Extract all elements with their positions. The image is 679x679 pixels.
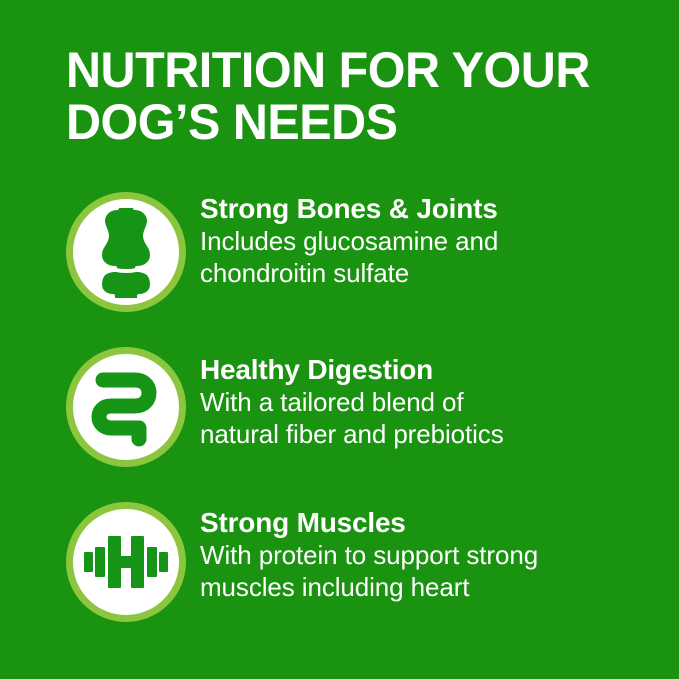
dumbbell-icon bbox=[84, 536, 168, 588]
feature-description-line-2: chondroitin sulfate bbox=[200, 257, 660, 289]
intestine-icon bbox=[91, 367, 161, 447]
feature-heading: Strong Bones & Joints bbox=[200, 192, 660, 225]
intestine-icon-badge bbox=[66, 347, 186, 467]
feature-text-bones-joints: Strong Bones & Joints Includes glucosami… bbox=[200, 192, 660, 289]
feature-description: Includes glucosamine and chondroitin sul… bbox=[200, 225, 660, 289]
feature-description-line-2: muscles including heart bbox=[200, 571, 660, 603]
nutrition-infographic: NUTRITION FOR YOUR DOG’S NEEDS bbox=[0, 0, 679, 679]
feature-description: With a tailored blend of natural fiber a… bbox=[200, 386, 660, 450]
bone-joint-icon-badge bbox=[66, 192, 186, 312]
dumbbell-icon-badge bbox=[66, 502, 186, 622]
feature-description-line-1: Includes glucosamine and bbox=[200, 225, 660, 257]
feature-text-muscles: Strong Muscles With protein to support s… bbox=[200, 506, 660, 603]
feature-description: With protein to support strong muscles i… bbox=[200, 539, 660, 603]
feature-item-muscles: Strong Muscles With protein to support s… bbox=[0, 496, 679, 651]
page-title-line-2: DOG’S NEEDS bbox=[66, 96, 629, 148]
page-title: NUTRITION FOR YOUR DOG’S NEEDS bbox=[66, 44, 646, 148]
feature-heading: Healthy Digestion bbox=[200, 353, 660, 386]
feature-description-line-1: With protein to support strong bbox=[200, 539, 660, 571]
feature-heading: Strong Muscles bbox=[200, 506, 660, 539]
feature-list: Strong Bones & Joints Includes glucosami… bbox=[0, 186, 679, 651]
feature-description-line-1: With a tailored blend of bbox=[200, 386, 660, 418]
feature-item-digestion: Healthy Digestion With a tailored blend … bbox=[0, 341, 679, 496]
feature-item-bones-joints: Strong Bones & Joints Includes glucosami… bbox=[0, 186, 679, 341]
page-title-line-1: NUTRITION FOR YOUR bbox=[66, 44, 629, 96]
bone-joint-icon bbox=[87, 206, 165, 298]
feature-description-line-2: natural fiber and prebiotics bbox=[200, 418, 660, 450]
feature-text-digestion: Healthy Digestion With a tailored blend … bbox=[200, 353, 660, 450]
